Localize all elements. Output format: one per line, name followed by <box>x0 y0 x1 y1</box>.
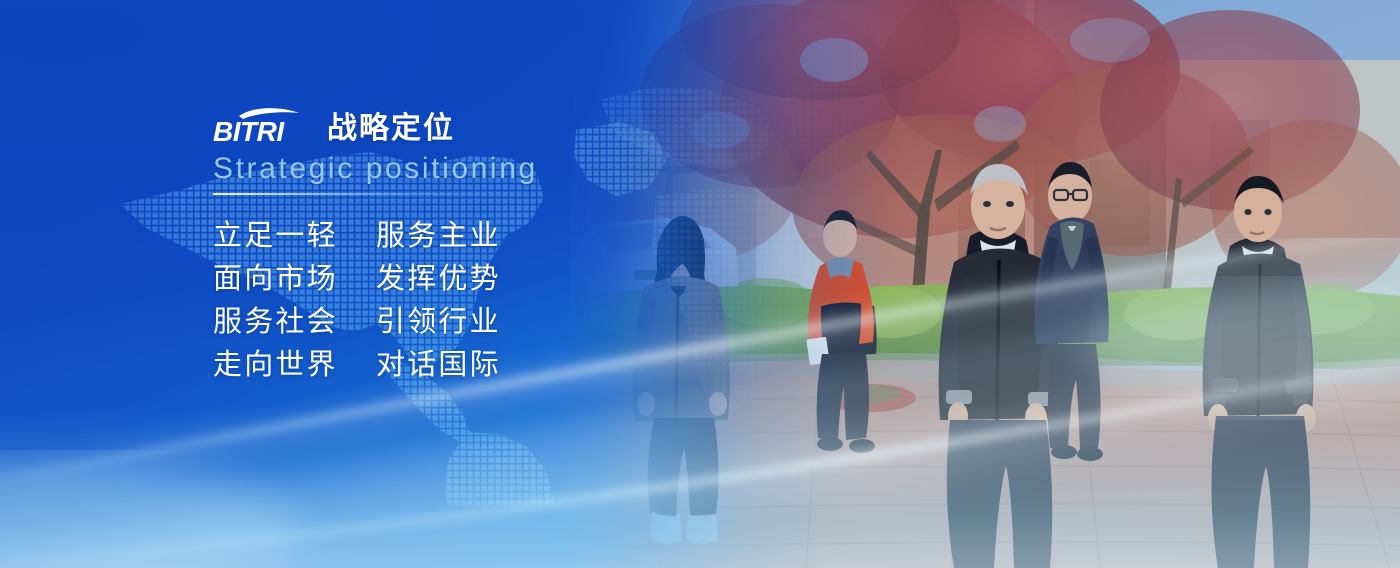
brand-subtitle-en: Strategic positioning <box>213 150 683 188</box>
slogan-left: 面向市场 <box>213 258 376 301</box>
hero-banner: BITRI 战略定位 Strategic positioning 立足一轻 服务… <box>0 0 1400 568</box>
brand-title-cn: 战略定位 <box>327 112 455 146</box>
slogan-right: 发挥优势 <box>376 258 501 301</box>
bitri-logo: BITRI <box>213 105 313 147</box>
slogan-right: 服务主业 <box>376 215 501 258</box>
divider-rule <box>213 193 523 195</box>
slogan-right: 引领行业 <box>376 301 501 344</box>
slogan-left: 服务社会 <box>213 301 376 344</box>
slogan-right: 对话国际 <box>376 344 501 387</box>
slogan-line: 走向世界 对话国际 <box>213 344 683 387</box>
team-photo <box>570 0 1400 568</box>
brand-lockup: BITRI 战略定位 <box>213 103 683 147</box>
slogan-left: 立足一轻 <box>213 215 376 258</box>
slogan-line: 面向市场 发挥优势 <box>213 258 683 301</box>
slogan-left: 走向世界 <box>213 344 376 387</box>
svg-text:BITRI: BITRI <box>213 116 285 147</box>
slogan-line: 服务社会 引领行业 <box>213 301 683 344</box>
slogan-list: 立足一轻 服务主业 面向市场 发挥优势 服务社会 引领行业 走向世界 对话国际 <box>213 215 683 387</box>
slogan-line: 立足一轻 服务主业 <box>213 215 683 258</box>
hero-copy-block: BITRI 战略定位 Strategic positioning 立足一轻 服务… <box>213 103 683 387</box>
